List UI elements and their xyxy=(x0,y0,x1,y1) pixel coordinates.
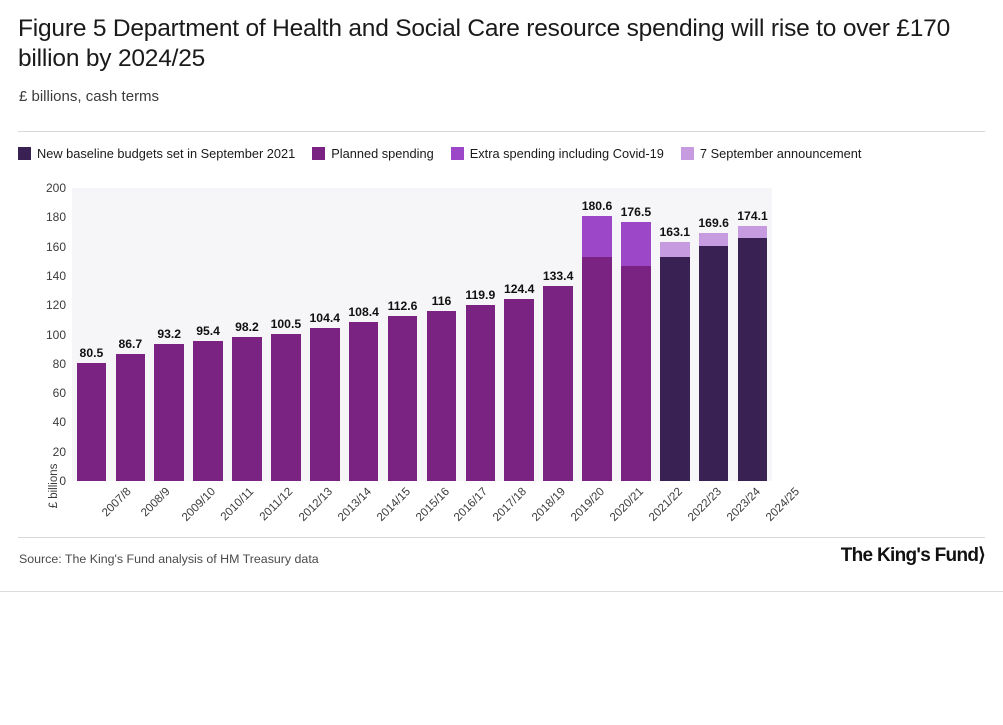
legend-label: Extra spending including Covid-19 xyxy=(470,146,664,161)
bar-segment xyxy=(154,344,184,481)
bar-value-label: 95.4 xyxy=(196,324,220,338)
bar-segment xyxy=(349,322,379,481)
brand-logo: The King's Fund⟩ xyxy=(841,544,985,567)
bar-group[interactable]: 116 xyxy=(427,311,457,481)
y-tick-label: 160 xyxy=(6,240,66,254)
bar-value-label: 98.2 xyxy=(235,320,259,334)
bar-segment xyxy=(738,238,768,481)
bar-segment xyxy=(77,363,107,481)
x-tick-label: 2019/20 xyxy=(568,485,607,524)
legend-swatch-icon xyxy=(681,147,694,160)
x-tick-label: 2016/17 xyxy=(452,485,491,524)
bar-group[interactable]: 112.6 xyxy=(388,316,418,481)
x-tick-label: 2023/24 xyxy=(724,485,763,524)
y-tick-label: 100 xyxy=(6,328,66,342)
x-tick-label: 2012/13 xyxy=(296,485,335,524)
bar-value-label: 163.1 xyxy=(660,225,691,239)
legend-item-2[interactable]: Extra spending including Covid-19 xyxy=(451,146,664,161)
plot-area: 80.586.793.295.498.2100.5104.4108.4112.6… xyxy=(72,188,772,481)
bar-value-label: 124.4 xyxy=(504,282,535,296)
x-tick-label: 2015/16 xyxy=(413,485,452,524)
y-tick-label: 200 xyxy=(6,181,66,195)
bar-group[interactable]: 98.2 xyxy=(232,337,262,481)
bar-segment xyxy=(310,328,340,481)
bar-value-label: 100.5 xyxy=(271,317,302,331)
y-tick-label: 80 xyxy=(6,357,66,371)
x-tick-label: 2020/21 xyxy=(607,485,646,524)
legend-label: New baseline budgets set in September 20… xyxy=(37,146,295,161)
x-tick-label: 2009/10 xyxy=(179,485,218,524)
bar-segment xyxy=(582,257,612,481)
bar-value-label: 169.6 xyxy=(698,216,729,230)
bar-group[interactable]: 119.9 xyxy=(466,305,496,481)
bar-group[interactable]: 133.4 xyxy=(543,286,573,481)
bar-segment xyxy=(582,216,612,257)
legend-item-0[interactable]: New baseline budgets set in September 20… xyxy=(18,146,295,161)
bar-segment xyxy=(271,334,301,481)
bar-group[interactable]: 174.1 xyxy=(738,226,768,481)
bar-group[interactable]: 100.5 xyxy=(271,334,301,481)
y-tick-label: 60 xyxy=(6,386,66,400)
brand-text: The King's Fund xyxy=(841,545,979,566)
bar-segment xyxy=(232,337,262,481)
footer-divider xyxy=(18,537,985,538)
legend-swatch-icon xyxy=(312,147,325,160)
x-tick-label: 2008/9 xyxy=(139,485,173,519)
legend-label: Planned spending xyxy=(331,146,433,161)
x-tick-label: 2007/8 xyxy=(100,485,134,519)
y-tick-label: 180 xyxy=(6,210,66,224)
y-tick-label: 140 xyxy=(6,269,66,283)
bar-segment xyxy=(621,222,651,266)
plot-container: £ billions 020406080100120140160180200 8… xyxy=(0,180,1003,540)
bar-segment xyxy=(504,299,534,481)
x-tick-label: 2013/14 xyxy=(335,485,374,524)
bar-segment xyxy=(193,341,223,481)
bar-segment xyxy=(699,233,729,246)
x-tick-label: 2024/25 xyxy=(763,485,802,524)
bar-segment xyxy=(660,242,690,257)
bar-segment xyxy=(427,311,457,481)
y-tick-label: 0 xyxy=(6,474,66,488)
bar-group[interactable]: 86.7 xyxy=(116,354,146,481)
bar-group[interactable]: 124.4 xyxy=(504,299,534,481)
x-tick-label: 2021/22 xyxy=(646,485,685,524)
bar-group[interactable]: 180.6 xyxy=(582,216,612,481)
bar-segment xyxy=(543,286,573,481)
bar-segment xyxy=(738,226,768,238)
bar-value-label: 133.4 xyxy=(543,269,574,283)
bar-group[interactable]: 95.4 xyxy=(193,341,223,481)
legend-item-1[interactable]: Planned spending xyxy=(312,146,433,161)
bars-layer: 80.586.793.295.498.2100.5104.4108.4112.6… xyxy=(72,188,772,481)
x-tick-label: 2014/15 xyxy=(374,485,413,524)
chart-legend: New baseline budgets set in September 20… xyxy=(18,146,878,161)
y-tick-label: 120 xyxy=(6,298,66,312)
bar-value-label: 176.5 xyxy=(621,205,652,219)
bottom-divider xyxy=(0,591,1003,592)
bar-value-label: 174.1 xyxy=(737,209,768,223)
bar-value-label: 116 xyxy=(432,294,452,308)
bar-group[interactable]: 93.2 xyxy=(154,344,184,481)
bar-value-label: 86.7 xyxy=(118,337,142,351)
page-title: Figure 5 Department of Health and Social… xyxy=(18,14,988,74)
bar-value-label: 112.6 xyxy=(388,299,418,313)
bar-group[interactable]: 80.5 xyxy=(77,363,107,481)
source-note: Source: The King's Fund analysis of HM T… xyxy=(19,552,319,566)
y-tick-label: 20 xyxy=(6,445,66,459)
legend-label: 7 September announcement xyxy=(700,146,862,161)
bar-value-label: 108.4 xyxy=(348,305,379,319)
x-tick-label: 2022/23 xyxy=(685,485,724,524)
bar-group[interactable]: 108.4 xyxy=(349,322,379,481)
bar-segment xyxy=(699,246,729,481)
bar-value-label: 104.4 xyxy=(310,311,341,325)
y-axis-ticks: 020406080100120140160180200 xyxy=(0,188,66,481)
x-tick-label: 2011/12 xyxy=(257,485,295,523)
x-tick-label: 2017/18 xyxy=(491,485,530,524)
bar-segment xyxy=(621,266,651,481)
bar-group[interactable]: 169.6 xyxy=(699,233,729,481)
legend-item-3[interactable]: 7 September announcement xyxy=(681,146,862,161)
bar-value-label: 80.5 xyxy=(80,346,104,360)
x-tick-label: 2010/11 xyxy=(218,485,256,523)
x-axis-labels: 2007/82008/92009/102010/112011/122012/13… xyxy=(72,485,772,540)
chart-subtitle: £ billions, cash terms xyxy=(19,88,159,105)
legend-swatch-icon xyxy=(451,147,464,160)
bar-value-label: 93.2 xyxy=(157,327,181,341)
header-divider xyxy=(18,131,985,132)
bar-group[interactable]: 163.1 xyxy=(660,242,690,481)
bar-segment xyxy=(660,257,690,481)
chart-figure: Figure 5 Department of Health and Social… xyxy=(0,0,1003,592)
bar-group[interactable]: 176.5 xyxy=(621,222,651,481)
bar-value-label: 180.6 xyxy=(582,199,613,213)
bar-value-label: 119.9 xyxy=(465,288,495,302)
bar-segment xyxy=(466,305,496,481)
bar-group[interactable]: 104.4 xyxy=(310,328,340,481)
figure-root: Figure 5 Department of Health and Social… xyxy=(0,0,1003,725)
x-tick-label: 2018/19 xyxy=(529,485,568,524)
bar-segment xyxy=(388,316,418,481)
bar-segment xyxy=(116,354,146,481)
legend-swatch-icon xyxy=(18,147,31,160)
y-tick-label: 40 xyxy=(6,415,66,429)
chevron-right-icon: ⟩ xyxy=(978,545,985,566)
